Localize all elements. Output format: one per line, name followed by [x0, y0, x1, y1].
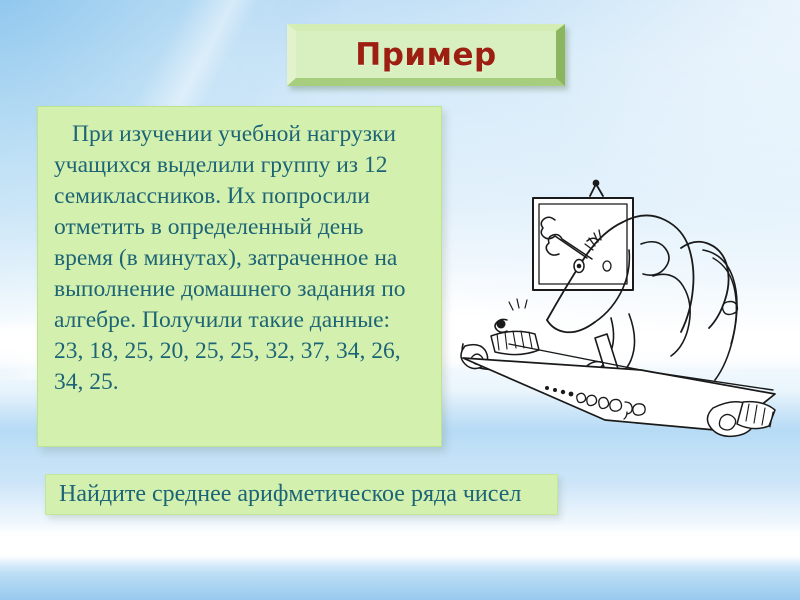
- task-prompt-text: Найдите среднее арифметическое ряда чисе…: [59, 481, 521, 508]
- page-title: Пример: [355, 37, 496, 73]
- slide-canvas: Пример При изучении учебной нагрузки уча…: [0, 0, 800, 600]
- title-plaque-inner: Пример: [296, 31, 556, 78]
- problem-statement-box: При изучении учебной нагрузки учащихся в…: [37, 106, 442, 447]
- problem-data-values: 23, 18, 25, 20, 25, 25, 32, 37, 34, 26, …: [54, 336, 427, 398]
- problem-statement-text: При изучении учебной нагрузки учащихся в…: [54, 119, 427, 336]
- task-prompt-banner: Найдите среднее арифметическое ряда чисе…: [45, 474, 558, 515]
- title-plaque: Пример: [287, 24, 565, 86]
